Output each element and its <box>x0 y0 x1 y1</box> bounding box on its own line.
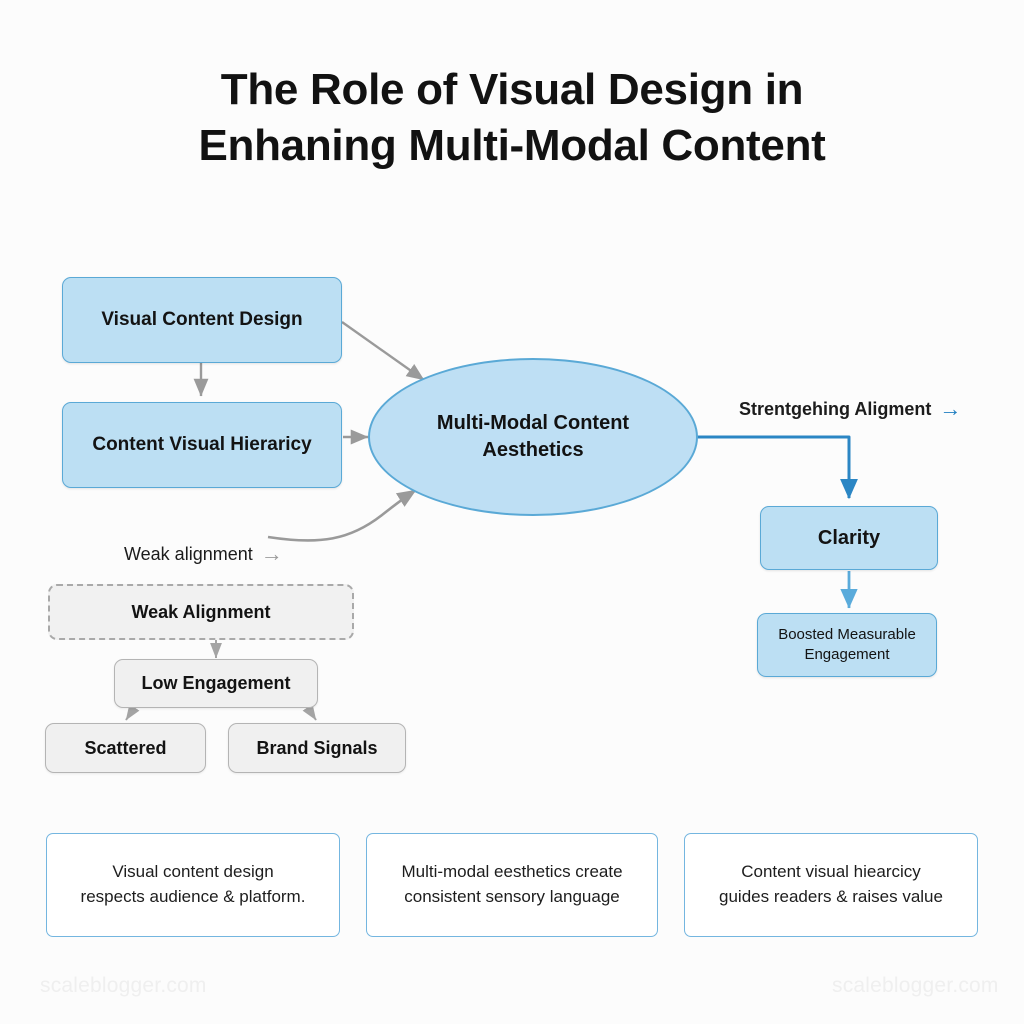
node-brand-signals[interactable]: Brand Signals <box>228 723 406 773</box>
node-clarity-label: Clarity <box>818 527 880 550</box>
edge-label-weak-alignment-text: Weak alignment <box>124 544 253 565</box>
node-multi-modal-content-aesthetics[interactable]: Multi-Modal Content Aesthetics <box>368 358 698 516</box>
summary-card-3-text: Content visual hiearcicy guides readers … <box>719 860 943 909</box>
summary-card-1-text: Visual content design respects audience … <box>81 860 306 909</box>
summary-card-3-line-1: Content visual hiearcicy <box>719 860 943 885</box>
connector-ellipse-to-clarity <box>697 437 849 498</box>
node-brand-signals-label: Brand Signals <box>256 738 377 759</box>
page-title: The Role of Visual Design in Enhaning Mu… <box>0 62 1024 175</box>
node-ellipse-label: Multi-Modal Content Aesthetics <box>437 410 629 464</box>
node-scattered[interactable]: Scattered <box>45 723 206 773</box>
connector-weak-alignment-to-ellipse <box>268 490 416 541</box>
connector-lowengagement-to-scattered <box>126 708 134 720</box>
node-visual-content-design[interactable]: Visual Content Design <box>62 277 342 363</box>
summary-card-2[interactable]: Multi-modal eesthetics create consistent… <box>366 833 658 937</box>
summary-card-1-line-1: Visual content design <box>81 860 306 885</box>
summary-card-1[interactable]: Visual content design respects audience … <box>46 833 340 937</box>
diagram-canvas: The Role of Visual Design in Enhaning Mu… <box>0 0 1024 1024</box>
node-weak-alignment[interactable]: Weak Alignment <box>48 584 354 640</box>
node-low-engagement[interactable]: Low Engagement <box>114 659 318 708</box>
arrow-right-gray-icon: → <box>261 543 283 565</box>
edge-label-weak-alignment: Weak alignment → <box>124 543 283 565</box>
node-content-visual-hierarchy-label: Content Visual Hieraricy <box>92 434 311 456</box>
summary-card-2-line-2: consistent sensory language <box>401 885 622 910</box>
connector-lowengagement-to-brandsignals <box>308 708 316 720</box>
node-boosted-engagement-label: Boosted Measurable Engagement <box>778 625 916 666</box>
node-boosted-engagement-line-2: Engagement <box>778 645 916 665</box>
node-weak-alignment-label: Weak Alignment <box>131 602 270 623</box>
node-low-engagement-label: Low Engagement <box>141 673 290 694</box>
page-title-line-1: The Role of Visual Design in <box>0 62 1024 118</box>
node-boosted-measurable-engagement[interactable]: Boosted Measurable Engagement <box>757 613 937 677</box>
watermark-left: scaleblogger.com <box>40 974 207 998</box>
summary-card-3-line-2: guides readers & raises value <box>719 885 943 910</box>
watermark-right: scaleblogger.com <box>832 974 999 998</box>
node-ellipse-label-line-1: Multi-Modal Content <box>437 410 629 437</box>
node-boosted-engagement-line-1: Boosted Measurable <box>778 625 916 645</box>
node-visual-content-design-label: Visual Content Design <box>101 309 302 331</box>
summary-card-3[interactable]: Content visual hiearcicy guides readers … <box>684 833 978 937</box>
node-clarity[interactable]: Clarity <box>760 506 938 570</box>
summary-card-2-line-1: Multi-modal eesthetics create <box>401 860 622 885</box>
page-title-line-2: Enhaning Multi-Modal Content <box>0 118 1024 174</box>
connector-design-to-ellipse <box>342 322 424 380</box>
edge-label-strengthening-alignment: Strentgehing Aligment → <box>739 398 961 420</box>
node-ellipse-label-line-2: Aesthetics <box>437 437 629 464</box>
node-content-visual-hierarchy[interactable]: Content Visual Hieraricy <box>62 402 342 488</box>
arrow-right-icon: → <box>939 398 961 420</box>
node-scattered-label: Scattered <box>84 738 166 759</box>
edge-label-strengthening-alignment-text: Strentgehing Aligment <box>739 399 931 420</box>
summary-card-1-line-2: respects audience & platform. <box>81 885 306 910</box>
summary-card-2-text: Multi-modal eesthetics create consistent… <box>401 860 622 909</box>
